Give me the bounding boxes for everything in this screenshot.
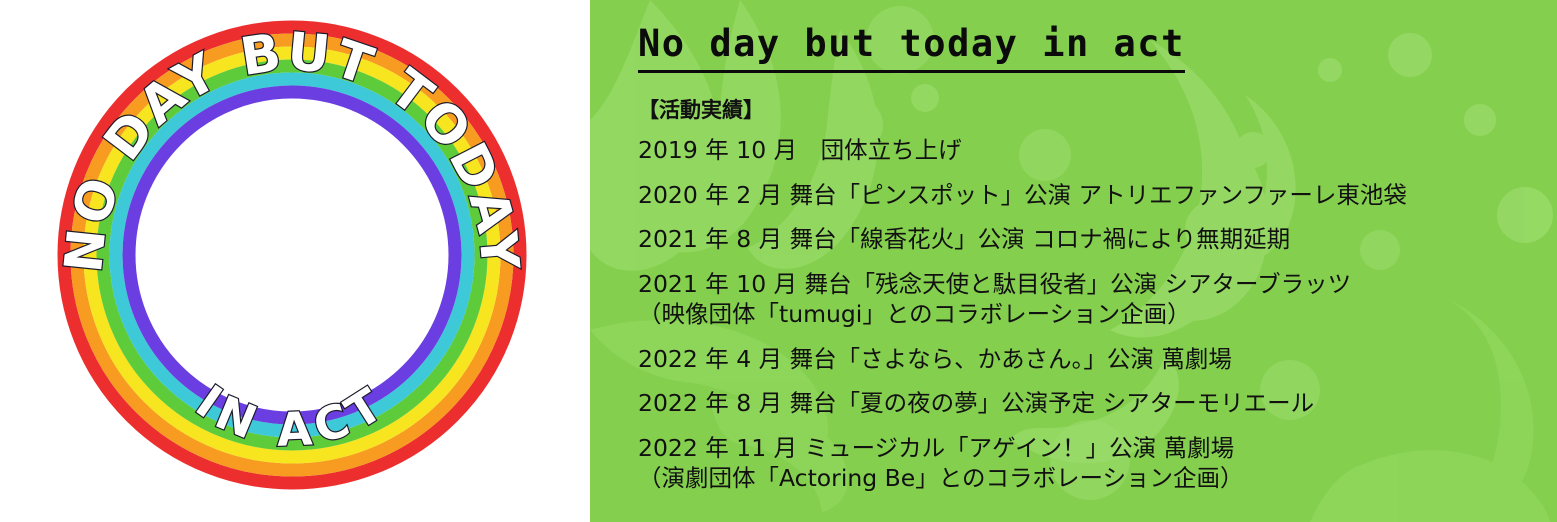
content-inner: No day but today in act 【活動実績】 2019 年 10…	[590, 0, 1557, 522]
ring-graphic: NO DAY BUT TODAY IN ACT	[47, 5, 537, 505]
page-title: No day but today in act	[638, 22, 1185, 73]
list-item: 2022 年 11 月 ミュージカル「アゲイン！」公演 萬劇場	[638, 437, 1538, 461]
list-item: 2019 年 10 月 団体立ち上げ	[638, 139, 1538, 163]
logo-panel: NO DAY BUT TODAY IN ACT	[0, 0, 590, 522]
ring-inner-fill	[136, 99, 448, 411]
list-item: 2021 年 8 月 舞台「線香花火」公演 コロナ禍により無期延期	[638, 228, 1538, 252]
list-item: 2022 年 4 月 舞台「さよなら、かあさん。」公演 萬劇場	[638, 348, 1538, 372]
activity-history-block: 【活動実績】 2019 年 10 月 団体立ち上げ 2020 年 2 月 舞台「…	[638, 100, 1538, 512]
content-panel: No day but today in act 【活動実績】 2019 年 10…	[590, 0, 1557, 522]
list-item-note: （映像団体「tumugi」とのコラボレーション企画）	[638, 303, 1538, 327]
list-item: 2021 年 10 月 舞台「残念天使と駄目役者」公演 シアターブラッツ	[638, 273, 1538, 297]
rainbow-ring-logo: NO DAY BUT TODAY IN ACT	[47, 5, 537, 505]
profile-banner: NO DAY BUT TODAY IN ACT	[0, 0, 1557, 522]
list-item-note: （演劇団体「Actoring Be」とのコラボレーション企画）	[638, 467, 1538, 491]
list-item: 2022 年 8 月 舞台「夏の夜の夢」公演予定 シアターモリエール	[638, 392, 1538, 416]
section-heading: 【活動実績】	[638, 100, 1538, 121]
list-item: 2020 年 2 月 舞台「ピンスポット」公演 アトリエファンファーレ東池袋	[638, 184, 1538, 208]
